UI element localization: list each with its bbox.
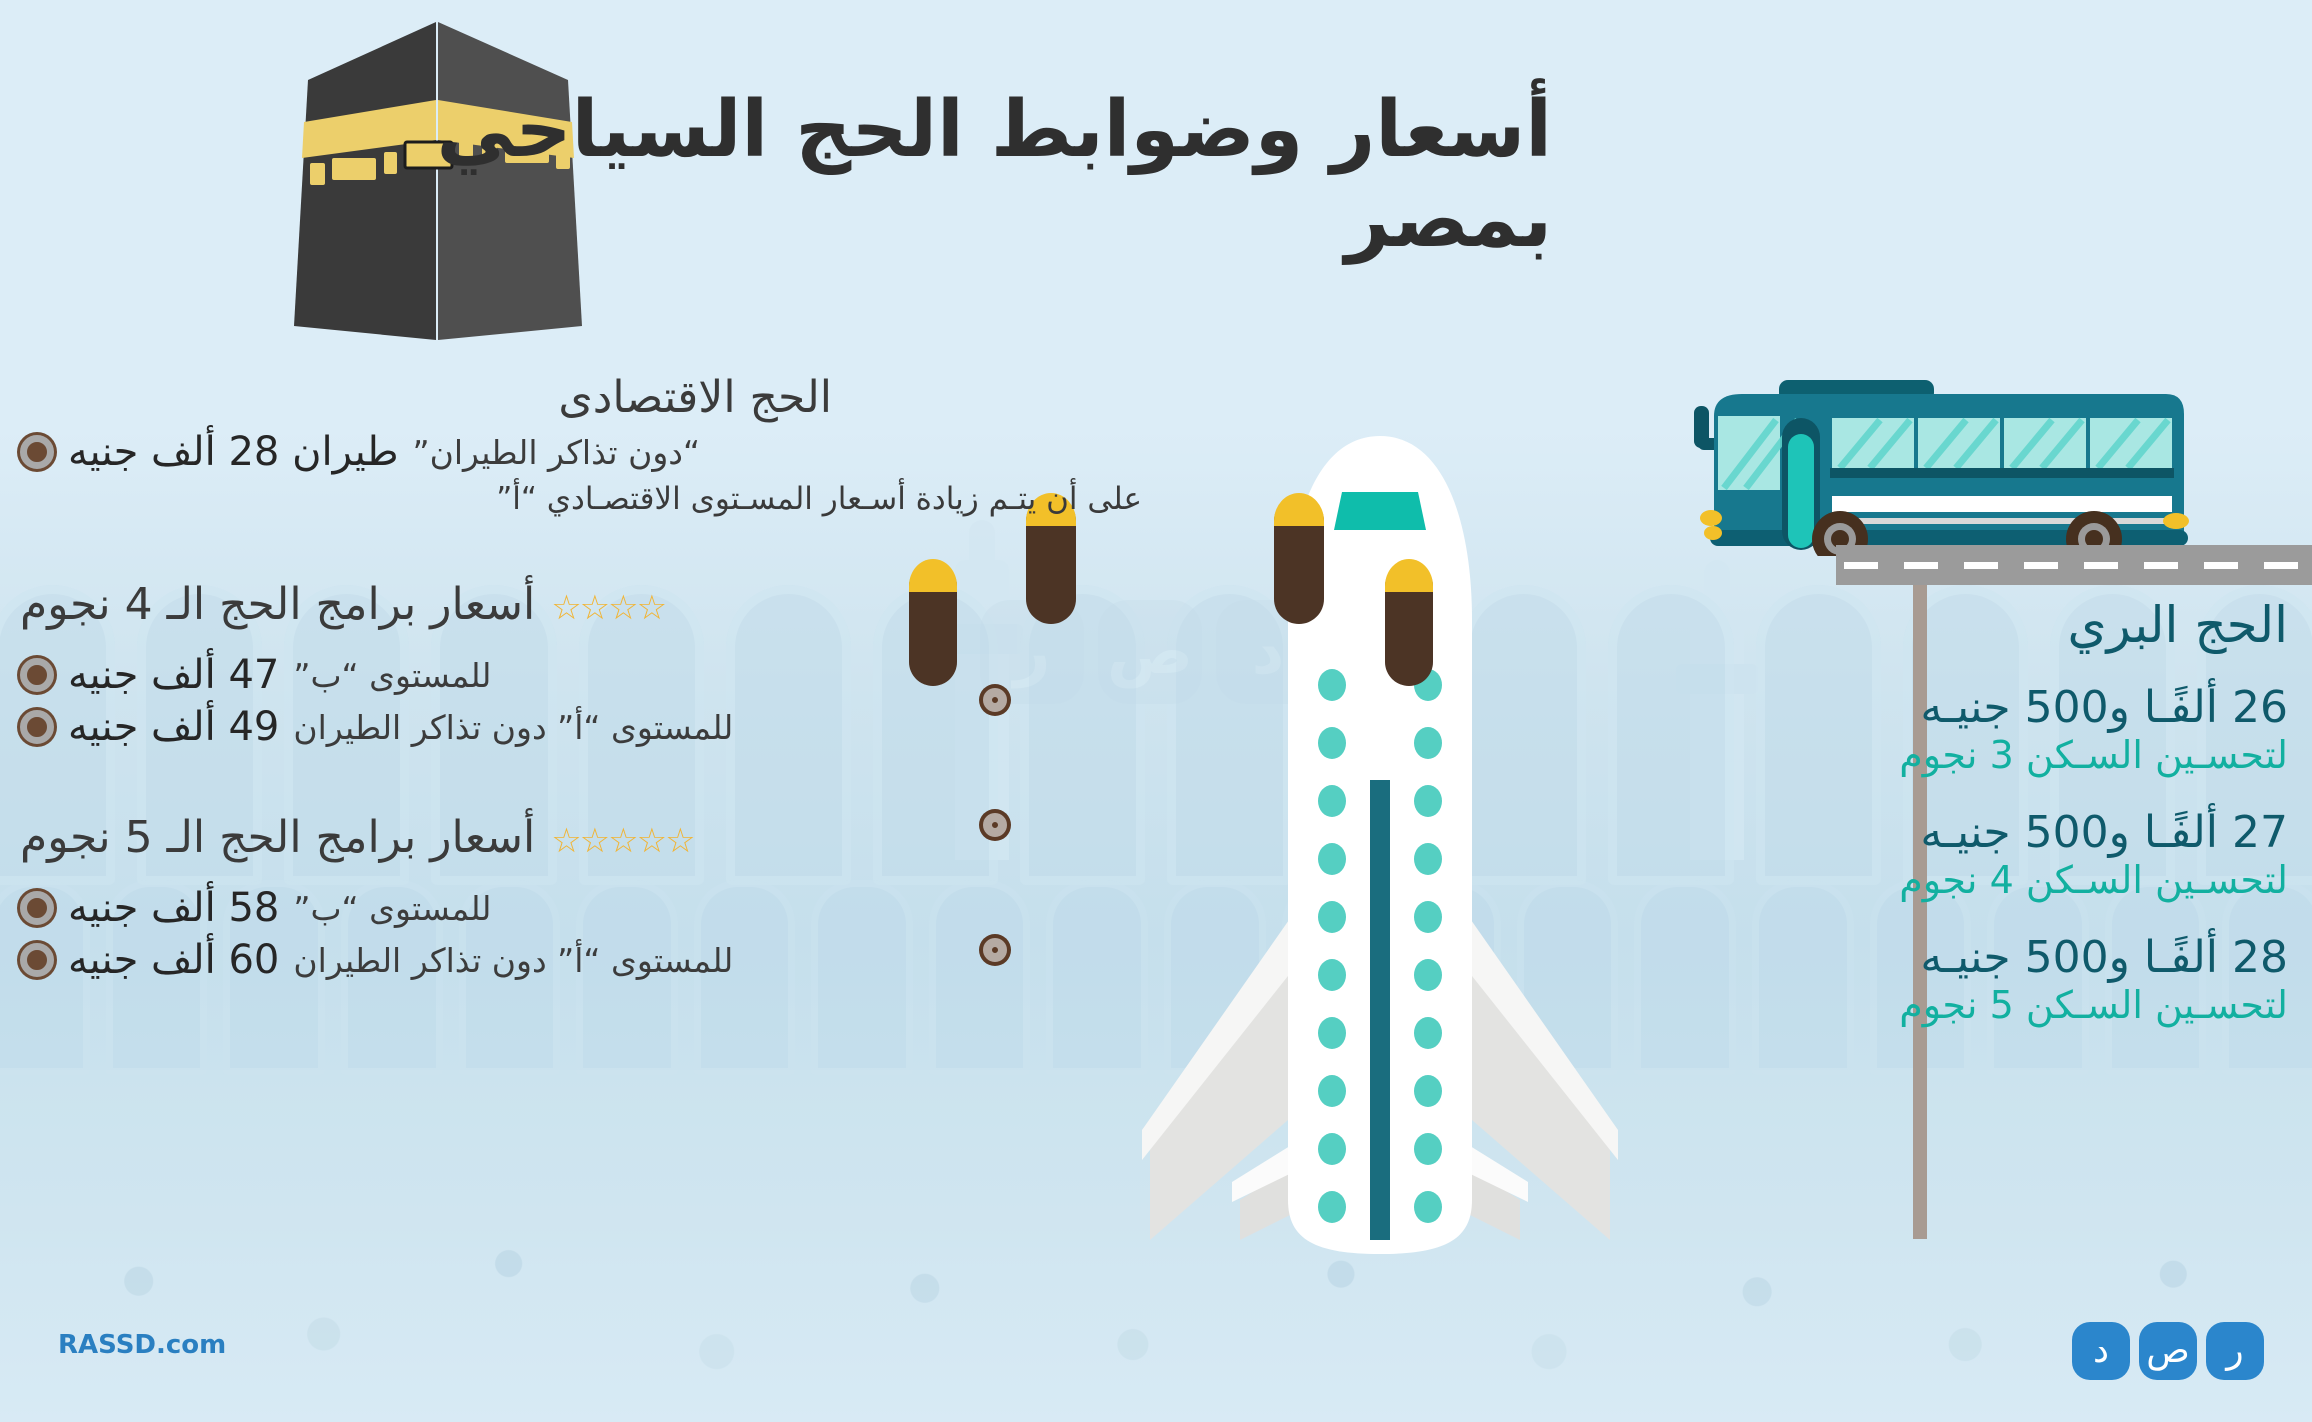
land-hajj-price: 28 ألفًـا و500 جنيـه (1460, 932, 2288, 983)
four-star-price-sub: للمستوى “ب” (293, 656, 491, 695)
logo-letter: ص (2139, 1322, 2197, 1380)
five-star-price-main: 60 ألف جنيه (68, 937, 279, 983)
land-hajj-item: 28 ألفًـا و500 جنيـه لتحسـين السـكن 5 نج… (1460, 932, 2288, 1027)
five-star-heading-line: أسعار برامج الحج الـ 5 نجوم ☆☆☆☆☆ (20, 812, 1142, 863)
five-star-price-sub: للمستوى “أ” دون تذاكر الطيران (293, 941, 733, 980)
four-star-price-main: 49 ألف جنيه (68, 704, 279, 750)
bullet-icon (20, 891, 54, 925)
brand-url: RASSD.com (58, 1330, 226, 1360)
bullet-icon (983, 813, 1007, 837)
four-star-heading: أسعار برامج الحج الـ 4 نجوم (20, 579, 535, 630)
logo-letter: د (2072, 1322, 2130, 1380)
road-icon (1836, 545, 2312, 585)
four-star-price-row: 49 ألف جنيه للمستوى “أ” دون تذاكر الطيرا… (20, 704, 1142, 750)
five-star-section: أسعار برامج الحج الـ 5 نجوم ☆☆☆☆☆ 58 ألف… (20, 812, 1142, 983)
economic-hajj-section: الحج الاقتصادى طيران 28 ألف جنيه “دون تذ… (20, 372, 1142, 989)
land-hajj-section: الحج البري 26 ألفًـا و500 جنيـه لتحسـين … (1460, 596, 2288, 1057)
land-hajj-sub: لتحسـين السـكن 5 نجوم (1460, 983, 2288, 1027)
infographic-canvas: د ص ر أسعار وضوابط الحج السياحي بمصر (0, 0, 2312, 1422)
four-star-section: أسعار برامج الحج الـ 4 نجوم ☆☆☆☆ 47 ألف … (20, 579, 1142, 750)
land-hajj-item: 26 ألفًـا و500 جنيـه لتحسـين السـكن 3 نج… (1460, 682, 2288, 777)
five-star-price-sub: للمستوى “ب” (293, 889, 491, 928)
airplane-engine-icon (1270, 486, 1328, 626)
five-star-price-row: 58 ألف جنيه للمستوى “ب” (20, 885, 1142, 931)
bullet-icon (20, 658, 54, 692)
land-hajj-price: 27 ألفًـا و500 جنيـه (1460, 807, 2288, 858)
four-star-price-row: 47 ألف جنيه للمستوى “ب” (20, 652, 1142, 698)
bullet-icon (20, 710, 54, 744)
four-star-rating-icon: ☆☆☆☆ (551, 588, 665, 628)
airplane-engine-icon (1382, 554, 1436, 688)
bus-icon (1684, 376, 2284, 556)
page-title: أسعار وضوابط الحج السياحي بمصر (372, 86, 1552, 265)
land-hajj-item: 27 ألفًـا و500 جنيـه لتحسـين السـكن 4 نج… (1460, 807, 2288, 902)
economic-price-sub: “دون تذاكر الطيران” (413, 433, 701, 472)
four-star-heading-line: أسعار برامج الحج الـ 4 نجوم ☆☆☆☆ (20, 579, 1142, 630)
land-hajj-sub: لتحسـين السـكن 3 نجوم (1460, 733, 2288, 777)
land-hajj-sub: لتحسـين السـكن 4 نجوم (1460, 858, 2288, 902)
economic-hajj-heading: الحج الاقتصادى (20, 372, 1142, 423)
five-star-heading: أسعار برامج الحج الـ 5 نجوم (20, 812, 535, 863)
economic-price-row: طيران 28 ألف جنيه “دون تذاكر الطيران” (20, 429, 1142, 475)
four-star-price-sub: للمستوى “أ” دون تذاكر الطيران (293, 708, 733, 747)
economic-note: على أن يتـم زيادة أسـعار المسـتوى الاقتص… (20, 481, 1142, 517)
four-star-price-main: 47 ألف جنيه (68, 652, 279, 698)
bullet-icon (983, 688, 1007, 712)
bullet-icon (20, 943, 54, 977)
bullet-icon (983, 938, 1007, 962)
five-star-price-main: 58 ألف جنيه (68, 885, 279, 931)
rassd-logo: د ص ر (2072, 1322, 2264, 1380)
land-hajj-heading: الحج البري (1460, 596, 2288, 654)
bullet-icon (20, 435, 54, 469)
land-hajj-price: 26 ألفًـا و500 جنيـه (1460, 682, 2288, 733)
road-dashes (1844, 562, 2304, 569)
five-star-price-row: 60 ألف جنيه للمستوى “أ” دون تذاكر الطيرا… (20, 937, 1142, 983)
economic-price-main: طيران 28 ألف جنيه (68, 429, 399, 475)
logo-letter: ر (2206, 1322, 2264, 1380)
five-star-rating-icon: ☆☆☆☆☆ (551, 821, 693, 861)
